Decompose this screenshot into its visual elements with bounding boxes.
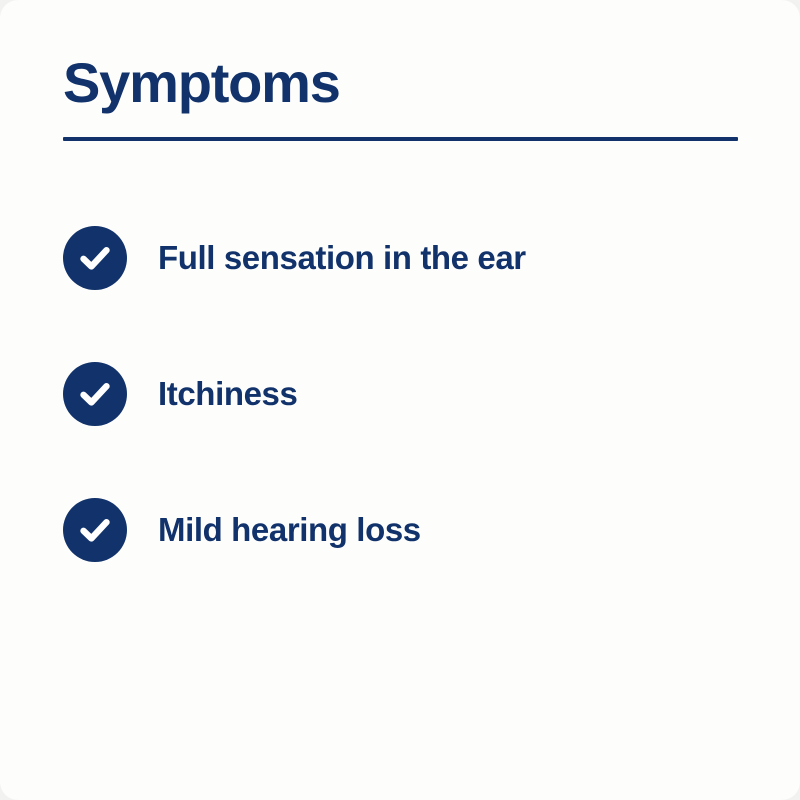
list-item: Full sensation in the ear [63, 226, 763, 290]
list-item: Itchiness [63, 362, 763, 426]
check-circle-icon [63, 362, 127, 426]
list-item: Mild hearing loss [63, 498, 763, 562]
header-block: Symptoms [63, 0, 738, 141]
symptom-label: Mild hearing loss [158, 512, 421, 548]
symptoms-card: Symptoms Full sensation in the ear Itchi… [0, 0, 800, 800]
symptom-list: Full sensation in the ear Itchiness Mild… [63, 226, 763, 562]
check-circle-icon [63, 226, 127, 290]
symptom-label: Itchiness [158, 376, 297, 412]
page-title: Symptoms [63, 0, 738, 115]
check-circle-icon [63, 498, 127, 562]
title-divider [63, 137, 738, 141]
symptom-label: Full sensation in the ear [158, 240, 526, 276]
